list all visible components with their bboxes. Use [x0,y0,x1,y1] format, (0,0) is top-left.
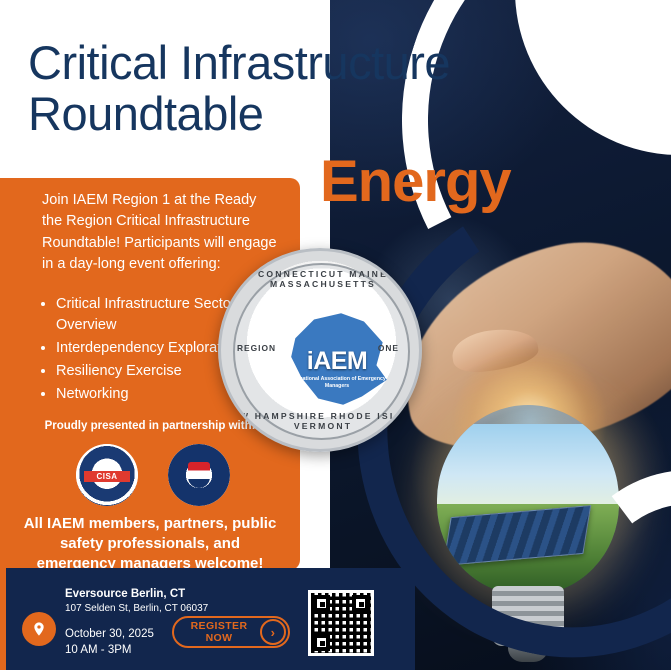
seal-top-states: CONNECTICUT MAINE MASSACHUSETTS [221,269,422,289]
cisa-logo: CISA [76,444,138,506]
ct-seal-icon [168,444,230,506]
seal-center: iAEM International Association of Emerge… [281,343,393,393]
qr-code-pattern [311,593,371,653]
seal-region-label: REGION [237,343,276,353]
welcome-text: All IAEM members, partners, public safet… [0,514,300,574]
seal-acronym: iAEM [307,347,368,376]
event-date: October 30, 2025 [65,628,154,640]
accent-word-energy: Energy [320,148,511,215]
panel-body-text: Join IAEM Region 1 at the Ready the Regi… [42,190,278,276]
qr-eye-bottom-left [313,634,330,651]
venue-address: 107 Selden St, Berlin, CT 06037 [65,603,208,614]
qr-code[interactable] [308,590,374,656]
page-title: Critical Infrastructure Roundtable [28,38,568,140]
qr-eye-top-left [313,595,330,612]
seal-subtitle: International Association of Emergency M… [281,376,393,389]
cisa-logo-label: CISA [84,471,130,482]
footer-accent-stripe [0,568,6,670]
chevron-right-icon: › [260,619,286,645]
qr-eye-top-right [352,595,369,612]
cisa-seal-icon: CISA [76,444,138,506]
ct-intelligence-center-logo [168,444,230,506]
shield-icon [188,462,210,488]
venue-name: Eversource Berlin, CT [65,588,185,600]
event-flyer: Critical Infrastructure Roundtable Energ… [0,0,671,670]
location-pin-icon [22,612,56,646]
iaem-region-1-seal: iAEM International Association of Emerge… [218,248,422,452]
partner-logos: CISA [58,443,248,507]
seal-bottom-states: NEW HAMPSHIRE RHODE ISLAND VERMONT [221,411,422,431]
register-now-button[interactable]: REGISTER NOW › [172,616,290,648]
event-time: 10 AM - 3PM [65,644,131,656]
seal-one-label: ONE [378,343,399,353]
register-button-label: REGISTER NOW [174,620,260,644]
